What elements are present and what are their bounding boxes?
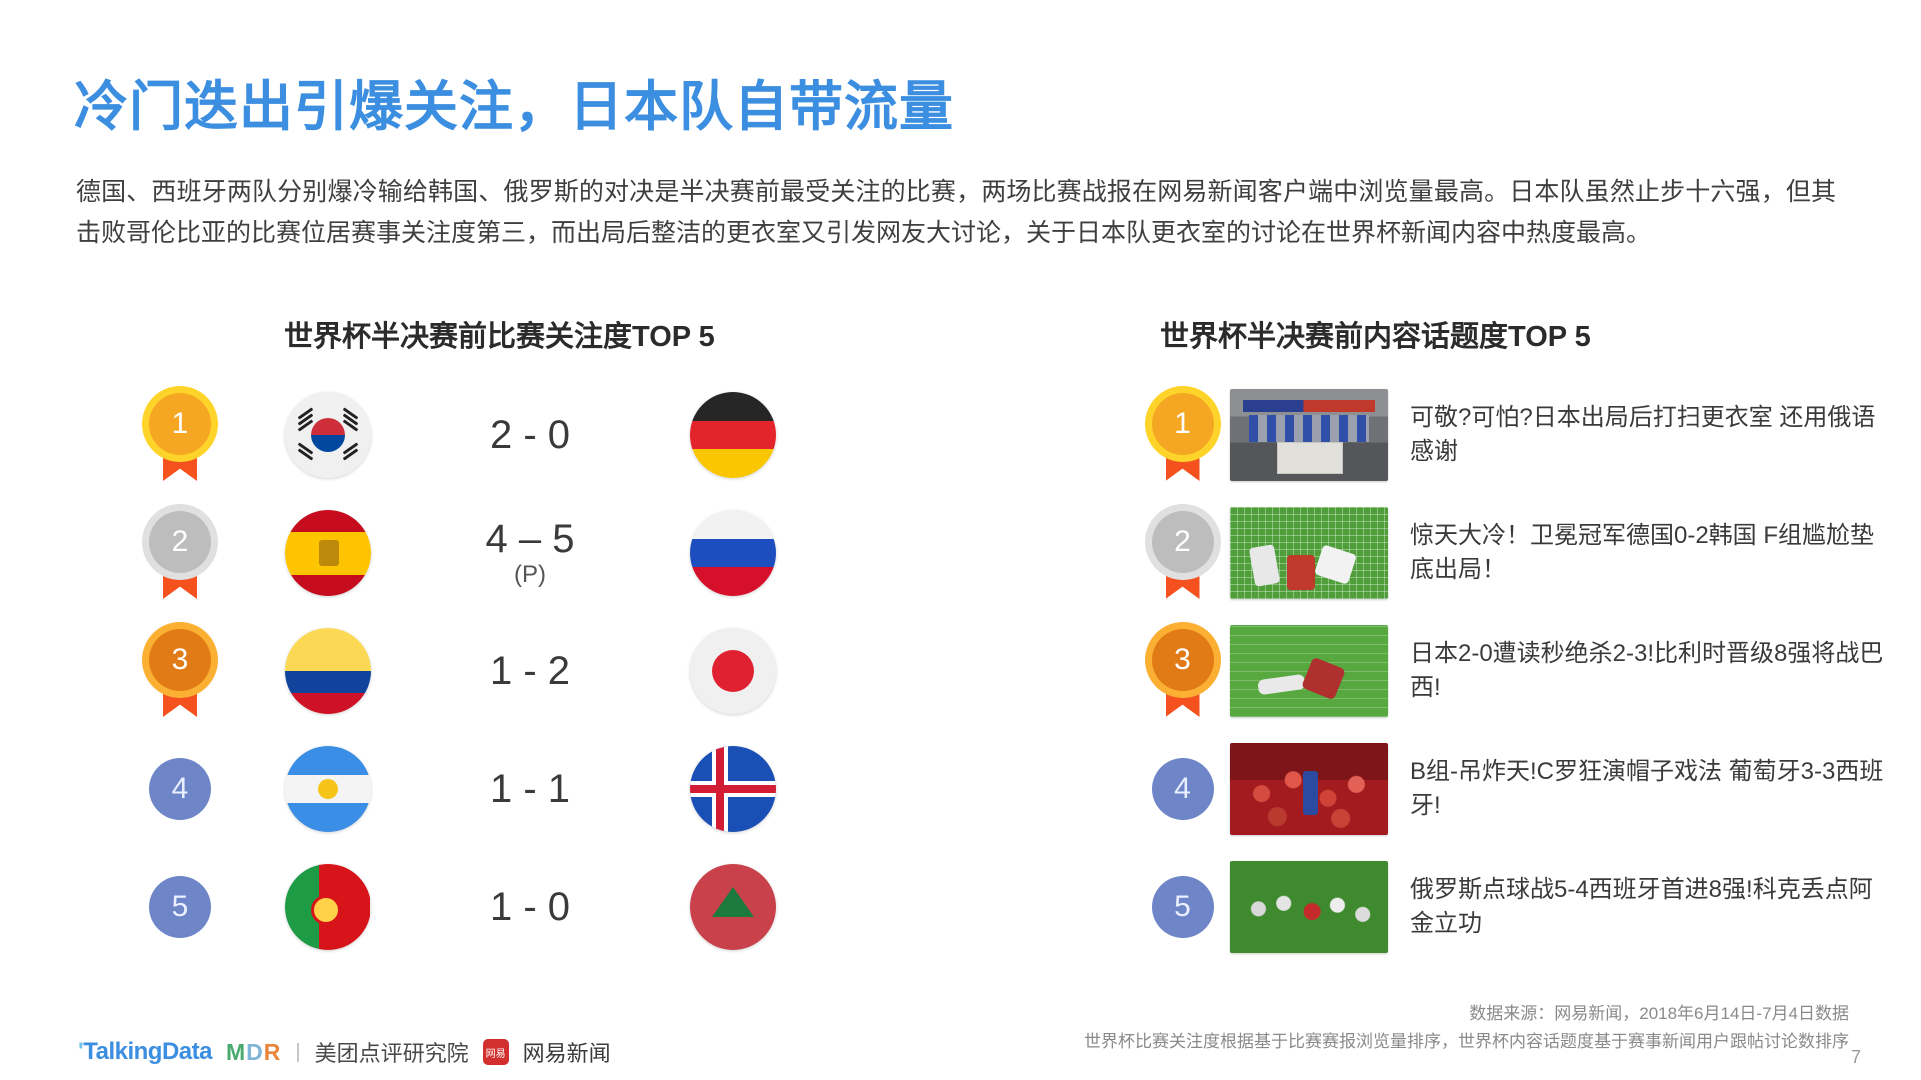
score-text: 4 – 5 [486,517,575,561]
table-row: 3 1 - 2 [120,612,910,730]
talkingdata-logo: 'TalkingData [78,1038,212,1066]
spain-flag-icon [285,510,371,596]
news-headline[interactable]: 日本2-0遭读秒绝杀2-3!比利时晋级8强将战巴西! [1410,637,1890,705]
news-headline[interactable]: 惊天大冷！卫冕冠军德国0-2韩国 F组尴尬垫底出局！ [1410,519,1890,587]
netease-badge-icon: 网易 [483,1039,509,1065]
bronze-medal-icon: 3 [1152,629,1214,713]
russia-flag-icon [690,510,776,596]
home-flag-cell [240,864,415,950]
news-headline[interactable]: B组-吊炸天!C罗狂演帽子戏法 葡萄牙3-3西班牙! [1410,755,1890,823]
rank-cell: 3 [120,629,240,713]
score-cell: 1 - 2 [415,650,645,692]
rank-cell: 1 [120,393,240,477]
page-title: 冷门迭出引爆关注，日本队自带流量 [74,62,954,141]
germany-flag-icon [690,392,776,478]
score-text: 1 - 2 [490,649,570,693]
mdr-logo-icon: MDR [226,1039,281,1066]
score-text: 1 - 1 [490,767,570,811]
source-line: 数据来源：网易新闻，2018年6月14日-7月4日数据 [1084,1000,1849,1028]
rank-badge: 4 [149,758,211,820]
rank-cell: 2 [1135,511,1230,595]
away-flag-cell [645,746,820,832]
list-item: 1 可敬?可怕?日本出局后打扫更衣室 还用俄语感谢 [1135,376,1895,494]
colombia-flag-icon [285,628,371,714]
source-note: 数据来源：网易新闻，2018年6月14日-7月4日数据 世界杯比赛关注度根据基于… [1084,1000,1849,1056]
home-flag-cell [240,628,415,714]
rank-number: 3 [1152,629,1214,691]
score-text: 1 - 0 [490,885,570,929]
morocco-flag-icon [690,864,776,950]
table-row: 4 1 - 1 [120,730,910,848]
list-item: 4 B组-吊炸天!C罗狂演帽子戏法 葡萄牙3-3西班牙! [1135,730,1895,848]
rank-number: 1 [149,393,211,455]
list-item: 5 俄罗斯点球战5-4西班牙首进8强!科克丢点阿金立功 [1135,848,1895,966]
goal-save-photo [1230,507,1388,599]
japan-flag-icon [690,628,776,714]
russia-celebration-photo [1230,861,1388,953]
rank-badge: 4 [1152,758,1214,820]
japan-belgium-photo [1230,625,1388,717]
news-headline[interactable]: 俄罗斯点球战5-4西班牙首进8强!科克丢点阿金立功 [1410,873,1890,941]
away-flag-cell [645,392,820,478]
table-row: 1 [120,376,910,494]
matches-panel-heading: 世界杯半决赛前比赛关注度TOP 5 [284,313,715,355]
silver-medal-icon: 2 [1152,511,1214,595]
table-row: 5 1 - 0 [120,848,910,966]
rank-cell: 2 [120,511,240,595]
gold-medal-icon: 1 [1152,393,1214,477]
home-flag-cell [240,746,415,832]
rank-cell: 5 [120,876,240,938]
news-headline[interactable]: 可敬?可怕?日本出局后打扫更衣室 还用俄语感谢 [1410,401,1890,469]
silver-medal-icon: 2 [149,511,211,595]
portugal-fans-photo [1230,743,1388,835]
iceland-flag-icon [690,746,776,832]
locker-room-photo [1230,389,1388,481]
intro-paragraph: 德国、西班牙两队分别爆冷输给韩国、俄罗斯的对决是半决赛前最受关注的比赛，两场比赛… [76,172,1836,254]
rank-badge: 5 [1152,876,1214,938]
logo-bar: 'TalkingData MDR | 美团点评研究院 网易 网易新闻 [78,1036,611,1068]
rank-cell: 3 [1135,629,1230,713]
rank-cell: 4 [120,758,240,820]
score-cell: 1 - 0 [415,886,645,928]
rank-number: 1 [1152,393,1214,455]
topics-list: 1 可敬?可怕?日本出局后打扫更衣室 还用俄语感谢 2 惊天大冷！卫冕冠军德国0… [1135,376,1895,966]
table-row: 2 4 – 5 (P) [120,494,910,612]
list-item: 2 惊天大冷！卫冕冠军德国0-2韩国 F组尴尬垫底出局！ [1135,494,1895,612]
bronze-medal-icon: 3 [149,629,211,713]
rank-number: 2 [1152,511,1214,573]
score-note: (P) [415,562,645,587]
away-flag-cell [645,510,820,596]
netease-name-label: 网易新闻 [523,1036,611,1068]
south-korea-flag-icon [285,392,371,478]
gold-medal-icon: 1 [149,393,211,477]
portugal-flag-icon [285,864,371,950]
method-line: 世界杯比赛关注度根据基于比赛赛报浏览量排序，世界杯内容话题度基于赛事新闻用户跟帖… [1084,1028,1849,1056]
score-text: 2 - 0 [490,413,570,457]
away-flag-cell [645,628,820,714]
argentina-flag-icon [285,746,371,832]
rank-cell: 5 [1135,876,1230,938]
list-item: 3 日本2-0遭读秒绝杀2-3!比利时晋级8强将战巴西! [1135,612,1895,730]
topics-panel-heading: 世界杯半决赛前内容话题度TOP 5 [1160,313,1591,355]
talkingdata-wordmark: TalkingData [83,1038,212,1065]
page-number: 7 [1851,1047,1861,1068]
rank-number: 2 [149,511,211,573]
score-cell: 2 - 0 [415,414,645,456]
score-cell: 4 – 5 (P) [415,518,645,587]
score-cell: 1 - 1 [415,768,645,810]
logo-divider: | [295,1041,300,1064]
slide-root: 冷门迭出引爆关注，日本队自带流量 德国、西班牙两队分别爆冷输给韩国、俄罗斯的对决… [0,0,1921,1080]
rank-number: 3 [149,629,211,691]
rank-cell: 1 [1135,393,1230,477]
mdr-name-label: 美团点评研究院 [315,1036,469,1068]
home-flag-cell [240,392,415,478]
home-flag-cell [240,510,415,596]
rank-badge: 5 [149,876,211,938]
rank-cell: 4 [1135,758,1230,820]
matches-list: 1 [120,376,910,966]
away-flag-cell [645,864,820,950]
